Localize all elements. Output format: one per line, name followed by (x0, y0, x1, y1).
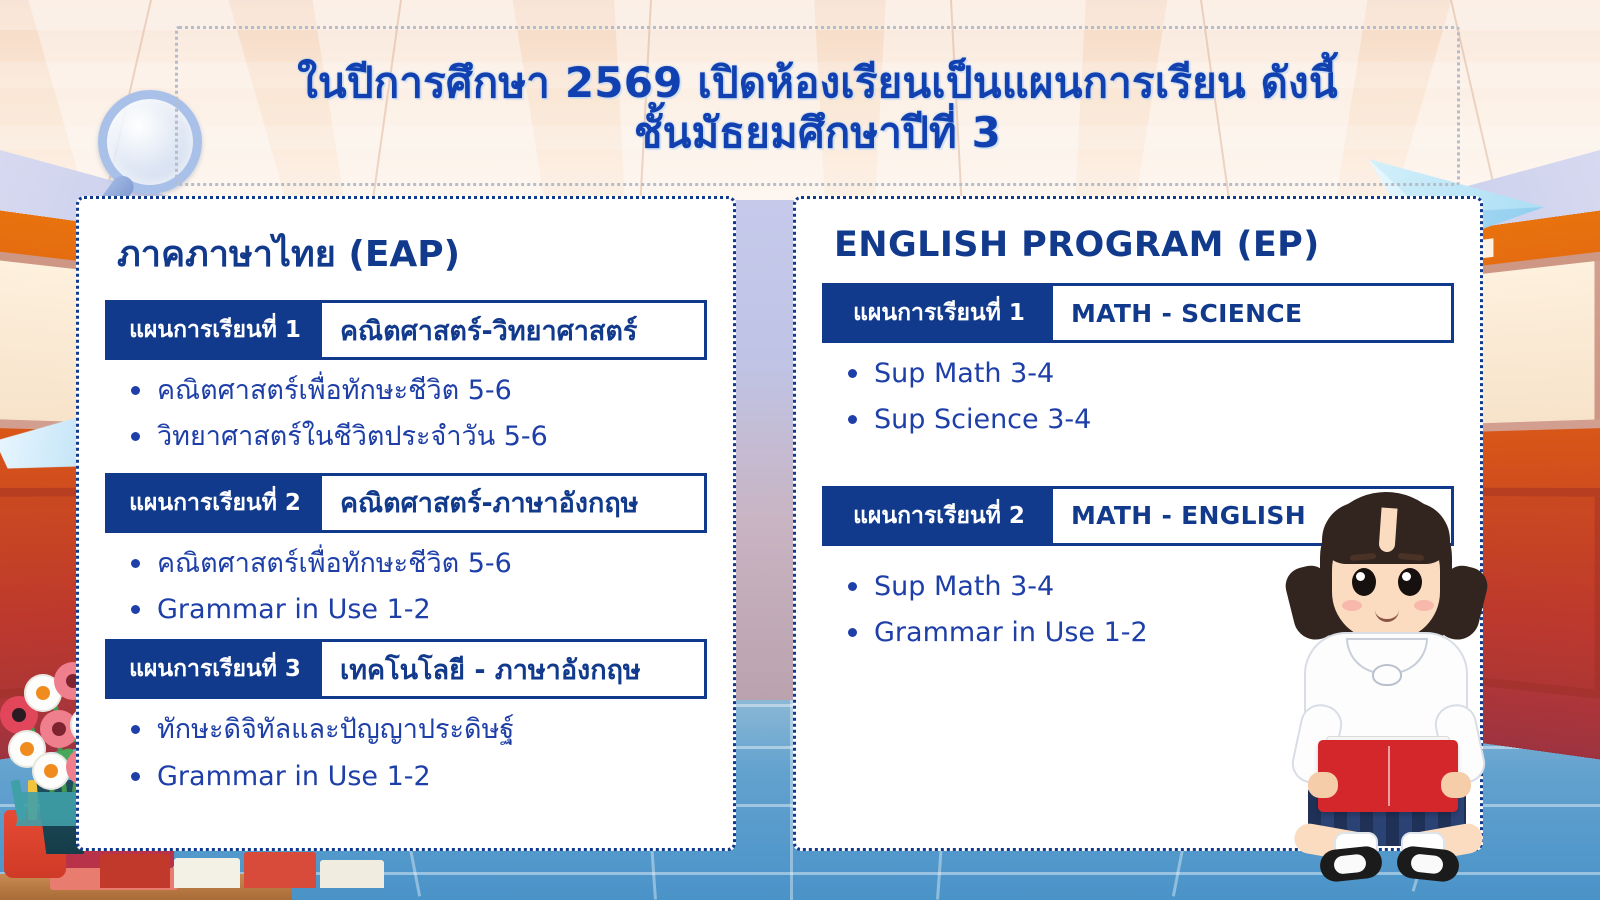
bullet-icon (848, 415, 857, 424)
bullet-icon (131, 605, 140, 614)
panel-eap-heading: ภาคภาษาไทย (EAP) (117, 225, 707, 282)
bullet-icon (848, 582, 857, 591)
course-item: ทักษะดิจิทัลและปัญญาประดิษฐ์ (127, 711, 707, 749)
course-item: Sup Science 3-4 (844, 401, 1454, 439)
page-title-line-1: ในปีการศึกษา 2569 เปิดห้องเรียนเป็นแผนกา… (297, 58, 1338, 108)
course-item: Grammar in Use 1-2 (127, 758, 707, 796)
plan-ep-2-number: แผนการเรียนที่ 2 (825, 489, 1053, 543)
plan-eap-3-courses: ทักษะดิจิทัลและปัญญาประดิษฐ์ Grammar in … (127, 711, 707, 796)
plan-eap-1-courses: คณิตศาสตร์เพื่อทักษะชีวิต 5-6 วิทยาศาสตร… (127, 372, 707, 457)
plan-ep-1: แผนการเรียนที่ 1 MATH - SCIENCE Sup Math… (822, 283, 1454, 440)
plan-eap-2-courses: คณิตศาสตร์เพื่อทักษะชีวิต 5-6 Grammar in… (127, 545, 707, 630)
bullet-icon (848, 369, 857, 378)
plan-eap-3-name: เทคโนโลยี - ภาษาอังกฤษ (322, 642, 704, 696)
plan-eap-3-bar: แผนการเรียนที่ 3 เทคโนโลยี - ภาษาอังกฤษ (105, 639, 707, 699)
course-label: Sup Math 3-4 (874, 571, 1054, 602)
course-label: Sup Math 3-4 (874, 358, 1054, 389)
plan-eap-3: แผนการเรียนที่ 3 เทคโนโลยี - ภาษาอังกฤษ … (105, 639, 707, 796)
plan-ep-1-bar: แผนการเรียนที่ 1 MATH - SCIENCE (822, 283, 1454, 343)
plan-ep-1-courses: Sup Math 3-4 Sup Science 3-4 (844, 355, 1454, 440)
bullet-icon (848, 628, 857, 637)
bullet-icon (131, 432, 140, 441)
panel-eap: ภาคภาษาไทย (EAP) แผนการเรียนที่ 1 คณิตศา… (76, 196, 736, 851)
plan-eap-2: แผนการเรียนที่ 2 คณิตศาสตร์-ภาษาอังกฤษ ค… (105, 473, 707, 630)
course-item: คณิตศาสตร์เพื่อทักษะชีวิต 5-6 (127, 372, 707, 410)
bullet-icon (131, 725, 140, 734)
bullet-icon (131, 772, 140, 781)
plan-eap-1-number: แผนการเรียนที่ 1 (108, 303, 322, 357)
course-label: Grammar in Use 1-2 (157, 594, 431, 625)
course-label: Grammar in Use 1-2 (157, 761, 431, 792)
plan-eap-2-name: คณิตศาสตร์-ภาษาอังกฤษ (322, 476, 704, 530)
plan-eap-1: แผนการเรียนที่ 1 คณิตศาสตร์-วิทยาศาสตร์ … (105, 300, 707, 457)
course-label: ทักษะดิจิทัลและปัญญาประดิษฐ์ (157, 714, 514, 745)
panel-ep-heading: ENGLISH PROGRAM (EP) (834, 225, 1454, 265)
plan-eap-2-number: แผนการเรียนที่ 2 (108, 476, 322, 530)
plan-eap-2-bar: แผนการเรียนที่ 2 คณิตศาสตร์-ภาษาอังกฤษ (105, 473, 707, 533)
course-item: คณิตศาสตร์เพื่อทักษะชีวิต 5-6 (127, 545, 707, 583)
course-label: Grammar in Use 1-2 (874, 617, 1148, 648)
course-label: Sup Science 3-4 (874, 404, 1091, 435)
course-item: วิทยาศาสตร์ในชีวิตประจำวัน 5-6 (127, 418, 707, 456)
plan-eap-1-name: คณิตศาสตร์-วิทยาศาสตร์ (322, 303, 704, 357)
plan-eap-3-number: แผนการเรียนที่ 3 (108, 642, 322, 696)
course-item: Grammar in Use 1-2 (127, 591, 707, 629)
course-label: คณิตศาสตร์เพื่อทักษะชีวิต 5-6 (157, 375, 512, 406)
course-item: Sup Math 3-4 (844, 355, 1454, 393)
plan-eap-1-bar: แผนการเรียนที่ 1 คณิตศาสตร์-วิทยาศาสตร์ (105, 300, 707, 360)
page-title-line-2: ชั้นมัธยมศึกษาปีที่ 3 (634, 108, 1001, 158)
bullet-icon (131, 559, 140, 568)
student-reading-icon (1268, 492, 1503, 884)
course-label: วิทยาศาสตร์ในชีวิตประจำวัน 5-6 (157, 421, 548, 452)
course-label: คณิตศาสตร์เพื่อทักษะชีวิต 5-6 (157, 548, 512, 579)
plan-ep-1-number: แผนการเรียนที่ 1 (825, 286, 1053, 340)
bullet-icon (131, 386, 140, 395)
plan-ep-1-name: MATH - SCIENCE (1053, 286, 1451, 340)
page-title-box: ในปีการศึกษา 2569 เปิดห้องเรียนเป็นแผนกา… (175, 26, 1460, 186)
